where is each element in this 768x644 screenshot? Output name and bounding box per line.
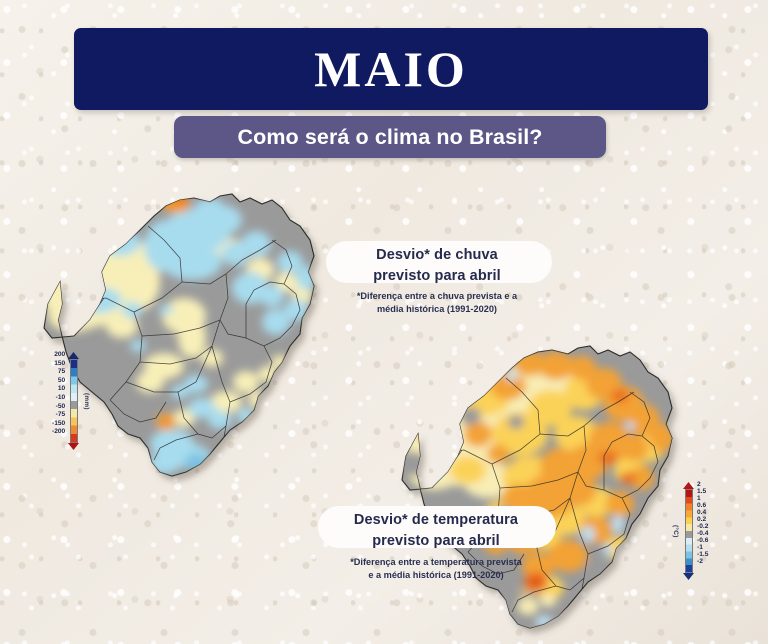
subtitle-banner: Como será o clima no Brasil? [174,116,606,158]
precip-tick-neg50: -50 [52,404,65,411]
temperature-colorbar-ticks: 2 1.5 1 0.6 0.4 0.2 -0.2 -0.4 -0.6 -1 -1… [694,482,708,566]
precip-tick-50: 50 [52,378,65,385]
title-banner: MAIO [74,28,708,110]
temperature-heading: Desvio* de temperatura previsto para abr… [320,510,552,551]
precipitation-heading-line1: Desvio* de chuva [330,245,544,266]
temperature-heading-line1: Desvio* de temperatura [320,510,552,531]
precipitation-colorbar-ticks: 200 150 75 50 10 -10 -50 -75 -150 -200 [52,352,68,436]
precip-colorbar-top-arrow [68,352,79,359]
temperature-unit-label: (°C) [672,525,679,538]
infographic-canvas: MAIO Como será o clima no Brasil? [0,0,768,644]
temperature-colorbar: (°C) 2 1.5 1 0.6 0.4 0.2 -0.2 -0.4 -0.6 [672,482,708,580]
precipitation-colorbar: 200 150 75 50 10 -10 -50 -75 -150 -200 [52,352,90,450]
temp-tick-neg2: -2 [697,559,708,566]
precip-tick-10: 10 [52,386,65,393]
temp-colorbar-bottom-arrow [683,573,694,580]
precipitation-heading-line2: previsto para abril [330,266,544,287]
precipitation-note-line1: *Diferença entre a chuva prevista e a [330,290,544,303]
temperature-note-line2: e a média histórica (1991-2020) [320,569,552,582]
temperature-note-line1: *Diferença entre a temperatura prevista [320,556,552,569]
precipitation-heading: Desvio* de chuva previsto para abril [330,245,544,286]
precipitation-note-line2: média histórica (1991-2020) [330,303,544,316]
precip-tick-neg200: -200 [52,429,65,436]
precipitation-unit-label: (mm) [83,393,90,410]
precip-tick-150: 150 [52,361,65,368]
precip-tick-neg10: -10 [52,395,65,402]
precip-tick-neg150: -150 [52,421,65,428]
precip-tick-200: 200 [52,352,65,359]
subtitle-text: Como será o clima no Brasil? [237,125,542,150]
temperature-note: *Diferença entre a temperatura prevista … [320,556,552,583]
temp-colorbar-top-arrow [683,482,694,489]
precipitation-note: *Diferença entre a chuva prevista e a mé… [330,290,544,317]
temperature-map [372,338,712,644]
precipitation-colorbar-strip [70,359,78,443]
precip-colorbar-bottom-arrow [68,443,79,450]
precip-tick-75: 75 [52,369,65,376]
temperature-heading-line2: previsto para abril [320,531,552,552]
precip-tick-neg75: -75 [52,412,65,419]
temperature-colorbar-strip [685,489,693,573]
page-title: MAIO [314,44,468,94]
